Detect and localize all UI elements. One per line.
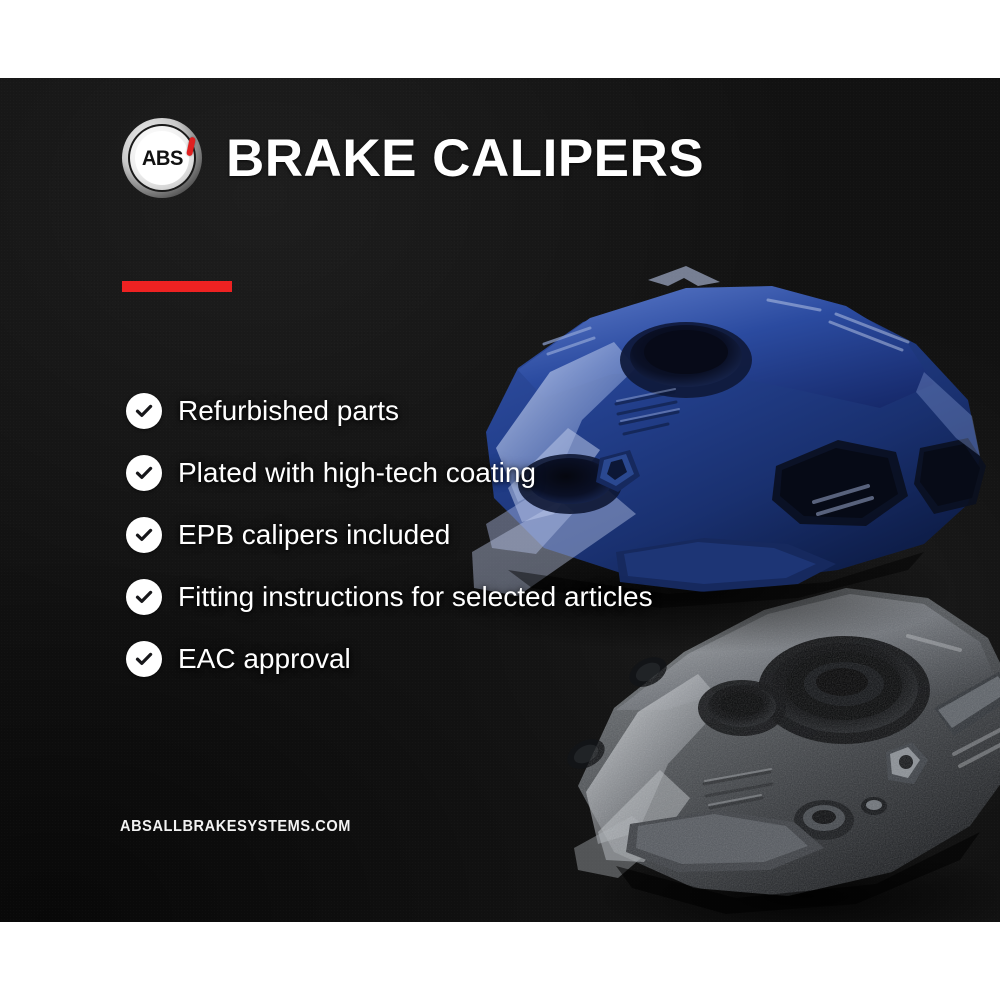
accent-rule xyxy=(122,281,232,292)
list-item: Plated with high-tech coating xyxy=(126,454,653,492)
logo-disc: ABS xyxy=(135,131,189,185)
brand-header: ABS BRAKE CALIPERS xyxy=(122,96,704,220)
feature-label: EPB calipers included xyxy=(178,521,450,549)
check-circle-icon xyxy=(126,579,162,615)
footer-website-url: ABSALLBRAKESYSTEMS.COM xyxy=(120,818,351,836)
check-circle-icon xyxy=(126,517,162,553)
page-title: BRAKE CALIPERS xyxy=(226,132,704,185)
list-item: Refurbished parts xyxy=(126,392,653,430)
check-circle-icon xyxy=(126,393,162,429)
logo-text: ABS xyxy=(141,148,182,169)
list-item: EAC approval xyxy=(126,640,653,678)
abs-roundel-logo: ABS xyxy=(122,118,202,198)
check-circle-icon xyxy=(126,641,162,677)
feature-label: Plated with high-tech coating xyxy=(178,459,536,487)
frame-band-bottom xyxy=(0,922,1000,1000)
feature-label: EAC approval xyxy=(178,645,351,673)
list-item: Fitting instructions for selected articl… xyxy=(126,578,653,616)
check-circle-icon xyxy=(126,455,162,491)
feature-list: Refurbished parts Plated with high-tech … xyxy=(126,392,653,678)
frame-band-top xyxy=(0,0,1000,78)
promo-banner: ABS BRAKE CALIPERS Refurbished parts Pla… xyxy=(0,0,1000,1000)
list-item: EPB calipers included xyxy=(126,516,653,554)
feature-label: Fitting instructions for selected articl… xyxy=(178,583,653,611)
feature-label: Refurbished parts xyxy=(178,397,399,425)
